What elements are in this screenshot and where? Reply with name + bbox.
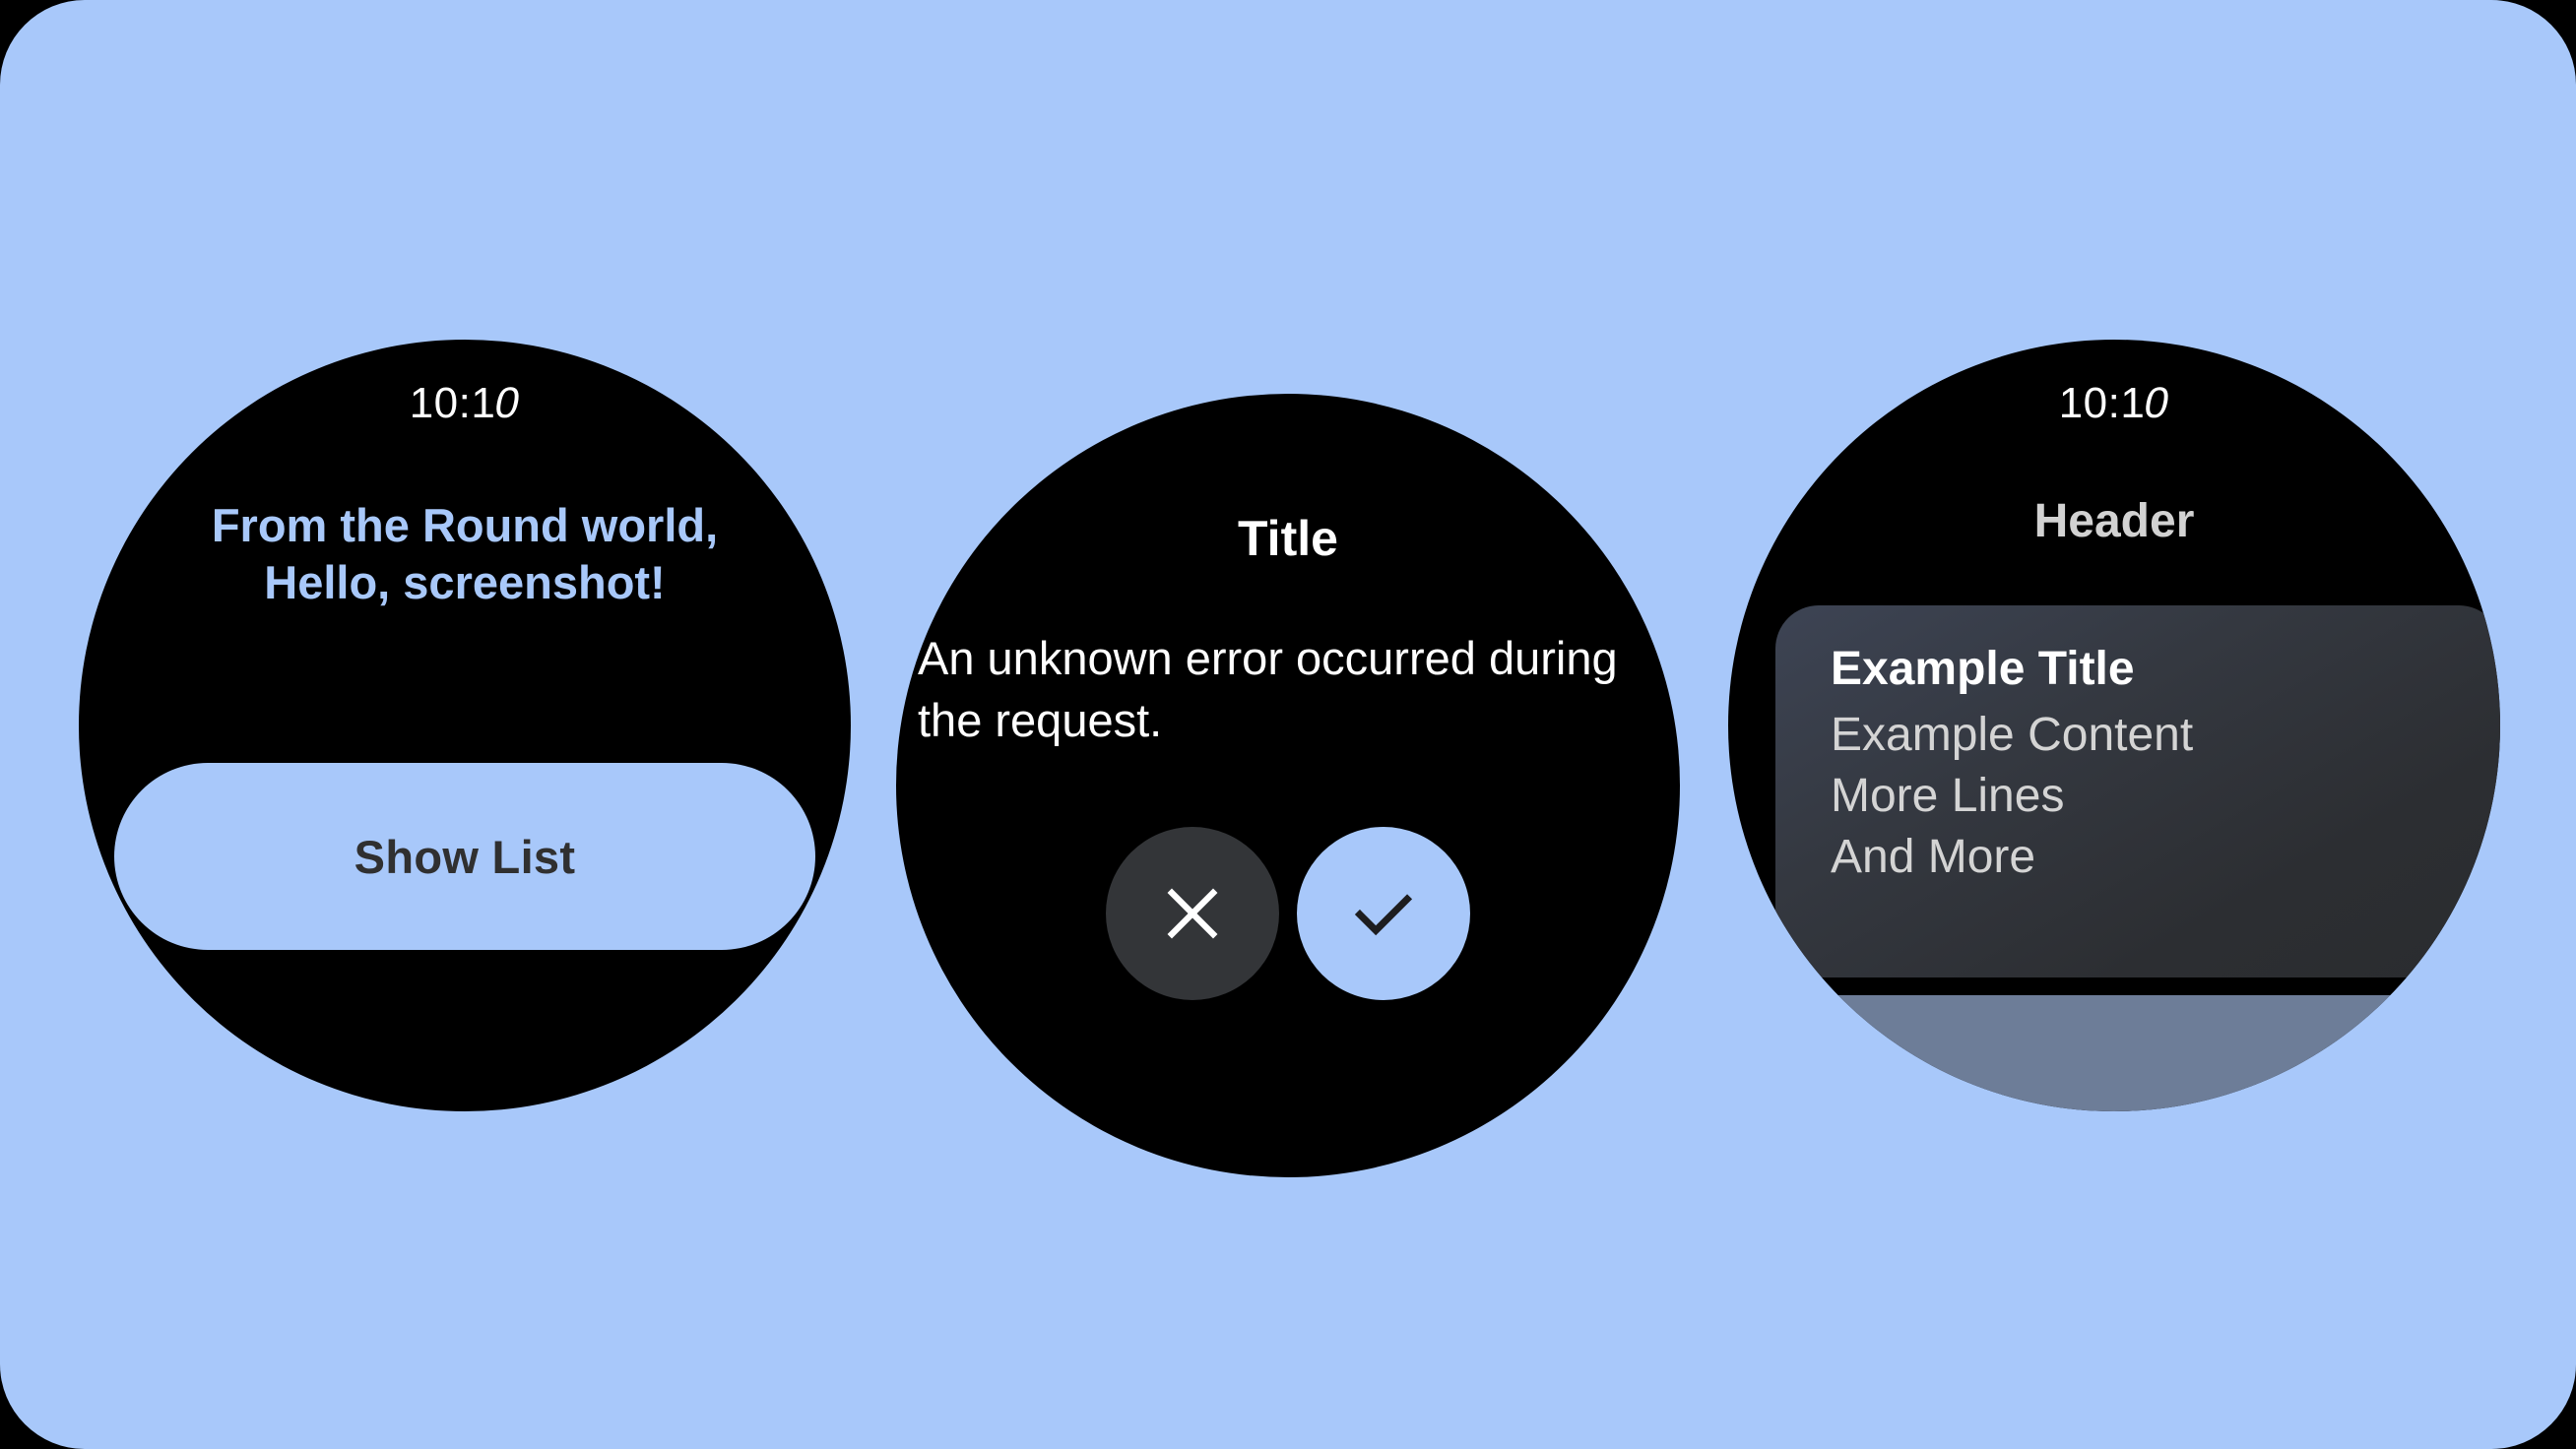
watch-preview-list: 10:10 Header Example Title Example Conte… <box>1728 340 2500 1111</box>
status-time-text: 10:1 <box>2059 379 2146 427</box>
alert-actions <box>896 827 1680 1000</box>
status-time-tilt-digit: 0 <box>491 382 525 425</box>
watch-preview-alert: Title An unknown error occurred during t… <box>896 394 1680 1177</box>
status-time-tilt-digit: 0 <box>2141 382 2174 425</box>
list-item-line-1: Example Content <box>1831 712 2482 759</box>
status-time-text: 10:1 <box>410 379 496 427</box>
status-time-watch-list: 10:10 <box>1728 382 2500 425</box>
show-list-button[interactable]: Show List <box>114 763 815 950</box>
status-time-watch-hello: 10:10 <box>79 382 851 425</box>
check-icon <box>1345 875 1422 952</box>
scroll-scrim <box>1728 995 2500 1111</box>
show-list-button-label: Show List <box>354 830 576 884</box>
list-item-line-3: And More <box>1831 834 2482 881</box>
dismiss-button[interactable] <box>1106 827 1279 1000</box>
close-icon <box>1157 878 1228 949</box>
card-bottom-divider <box>1728 977 2500 995</box>
list-header: Header <box>1728 494 2500 548</box>
watch-preview-hello: 10:10 From the Round world, Hello, scree… <box>79 340 851 1111</box>
list-item-card[interactable]: Example Title Example Content More Lines… <box>1775 605 2500 977</box>
list-item-content: Example Title Example Content More Lines… <box>1831 641 2482 881</box>
greeting-text: From the Round world, Hello, screenshot! <box>118 497 811 611</box>
list-item-title: Example Title <box>1831 641 2482 698</box>
confirm-button[interactable] <box>1297 827 1470 1000</box>
alert-message: An unknown error occurred during the req… <box>918 628 1658 751</box>
list-item-line-2: More Lines <box>1831 773 2482 820</box>
alert-title: Title <box>896 510 1680 567</box>
screenshot-canvas: 10:10 From the Round world, Hello, scree… <box>0 0 2576 1449</box>
